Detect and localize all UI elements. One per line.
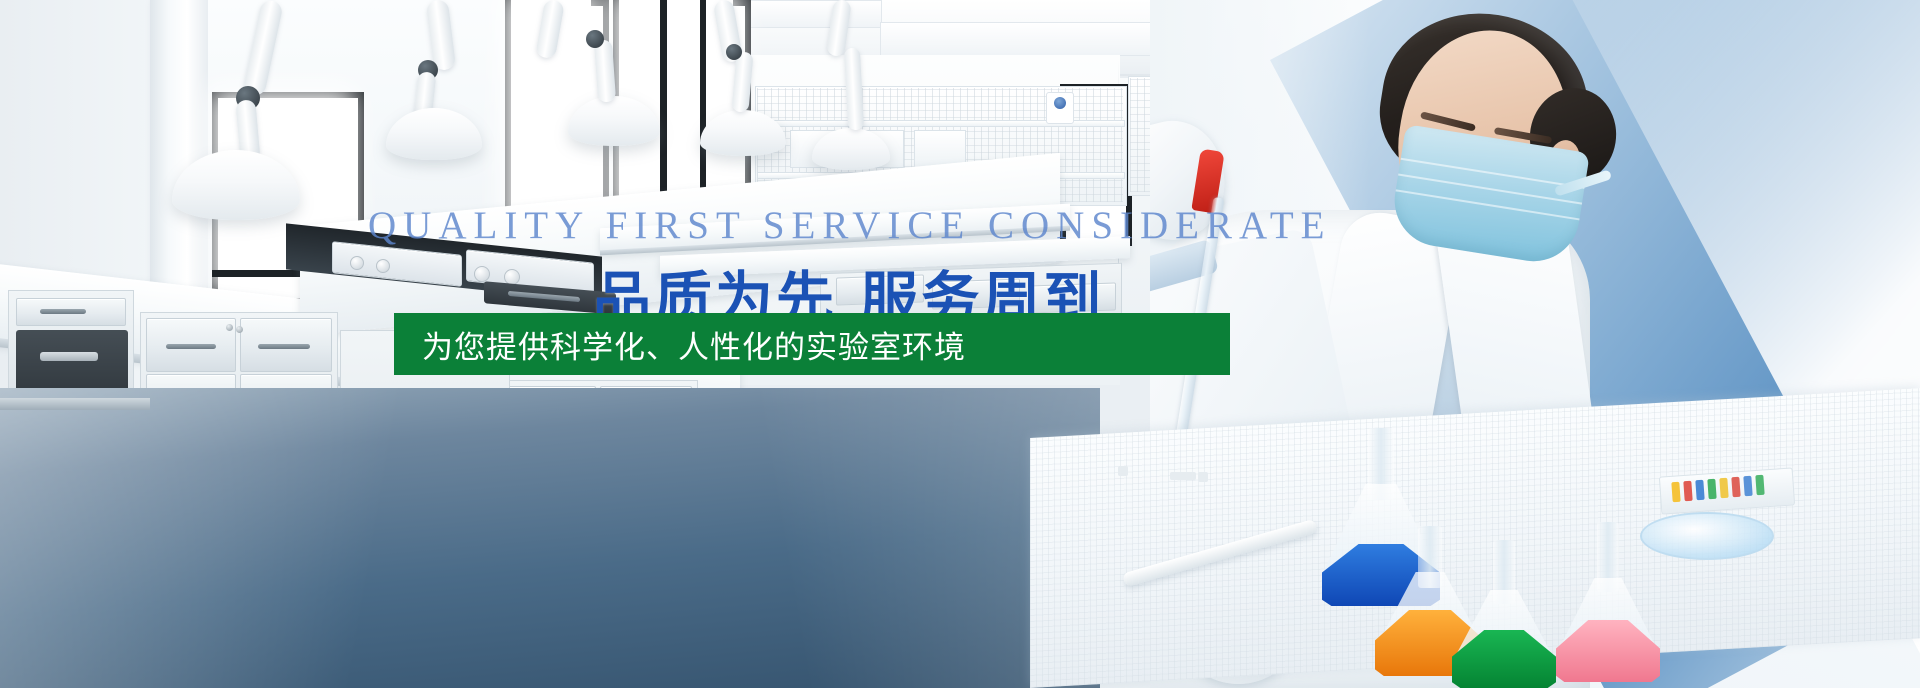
rack-tube-green bbox=[1755, 475, 1764, 496]
small-label-tag bbox=[1118, 466, 1128, 476]
rack-tube-red bbox=[1731, 477, 1740, 498]
back-drawer bbox=[1028, 282, 1116, 313]
small-label-tag bbox=[1198, 472, 1208, 482]
unit-handle bbox=[40, 352, 98, 361]
rack-tube-green bbox=[1707, 479, 1716, 500]
petri-dish bbox=[1640, 512, 1774, 560]
gas-tap-knob bbox=[376, 259, 390, 273]
banner-background-photo bbox=[0, 0, 1920, 688]
mask-pleat bbox=[1396, 189, 1580, 220]
drawer-handle bbox=[40, 309, 86, 314]
window-mullion bbox=[660, 0, 667, 214]
window-mullion bbox=[700, 0, 706, 214]
floor-reflection bbox=[0, 388, 1100, 688]
ceiling-panel bbox=[880, 22, 1182, 56]
rack-tube-yellow bbox=[1671, 482, 1680, 503]
rack-tube-red bbox=[1683, 481, 1692, 502]
small-label-tag bbox=[1170, 472, 1196, 480]
drawer-handle bbox=[258, 344, 310, 349]
rack-tube-blue bbox=[1695, 480, 1704, 501]
erlenmeyer-flask-pink bbox=[1556, 522, 1660, 682]
mask-pleat bbox=[1401, 158, 1585, 189]
hero-banner: QUALITY FIRST SERVICE CONSIDERATE 品质为先 服… bbox=[0, 0, 1920, 688]
gas-tap-knob bbox=[350, 256, 364, 270]
gas-tap-knob bbox=[474, 266, 490, 282]
erlenmeyer-flask-green bbox=[1452, 540, 1556, 688]
back-drawer bbox=[836, 274, 924, 305]
extractor-joint bbox=[586, 30, 604, 48]
back-drawer bbox=[932, 278, 1020, 309]
rack-tube-blue bbox=[1743, 476, 1752, 497]
rack-tube-yellow bbox=[1719, 478, 1728, 499]
safety-sign-icon bbox=[1046, 92, 1074, 124]
drawer-lock-icon bbox=[236, 326, 243, 333]
drawer-handle bbox=[166, 344, 216, 349]
drawer-lock-icon bbox=[226, 324, 233, 331]
extractor-joint bbox=[726, 44, 742, 60]
floor-baseboard bbox=[0, 398, 150, 410]
